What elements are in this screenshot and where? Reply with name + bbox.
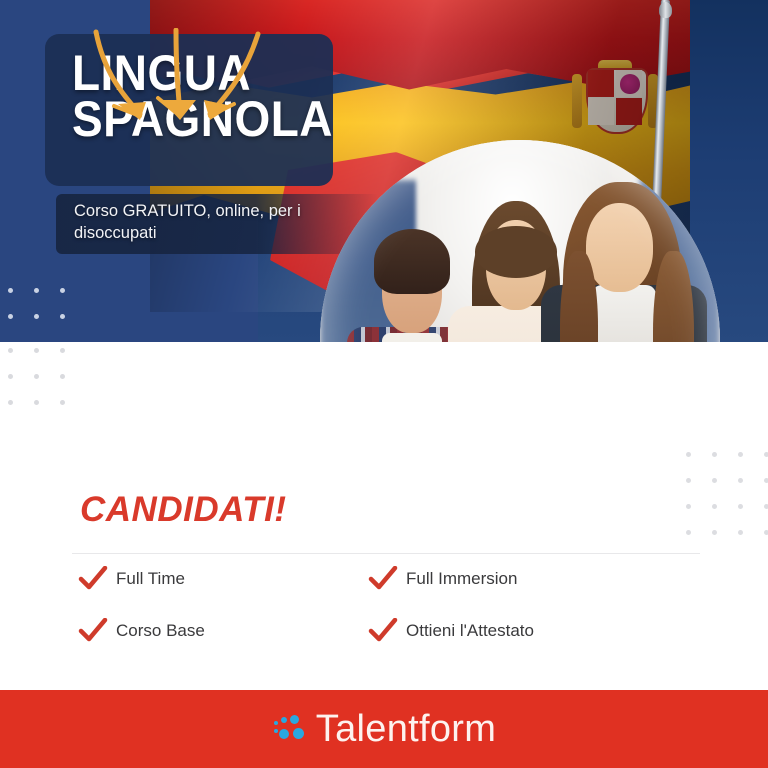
decorative-dot <box>738 504 743 509</box>
decorative-dot <box>60 288 65 293</box>
decorative-dot <box>764 478 768 483</box>
decorative-dot <box>686 530 691 535</box>
brand-name: Talentform <box>316 708 496 751</box>
checklist-row: Full Time Full Immersion <box>78 566 698 592</box>
feature-checklist: Full Time Full Immersion Corso Base <box>78 566 698 670</box>
check-icon <box>368 618 398 644</box>
decorative-dot <box>34 288 39 293</box>
list-item: Ottieni l'Attestato <box>368 618 658 644</box>
list-item: Full Time <box>78 566 368 592</box>
decorative-dot <box>8 288 13 293</box>
decorative-dot <box>712 504 717 509</box>
brand-logo: Talentform <box>272 708 496 751</box>
decorative-dot <box>60 374 65 379</box>
down-arrows-icon <box>88 28 268 138</box>
decorative-dot <box>738 478 743 483</box>
section-divider <box>72 553 700 554</box>
decorative-dot <box>712 530 717 535</box>
decorative-dot <box>8 400 13 405</box>
decorative-dot <box>34 314 39 319</box>
arms-quarter-4 <box>616 98 642 125</box>
flag-pole-cap <box>659 2 672 18</box>
decorative-dot <box>34 374 39 379</box>
decorative-dot <box>34 400 39 405</box>
check-icon <box>78 566 108 592</box>
decorative-dot <box>34 348 39 353</box>
footer-bar: Talentform <box>0 690 768 768</box>
decorative-dot <box>764 452 768 457</box>
decorative-dot <box>738 452 743 457</box>
student-left-hair <box>374 229 450 294</box>
decorative-dot <box>764 504 768 509</box>
dot-grid-left-on-blue <box>8 288 86 340</box>
list-item-label: Corso Base <box>116 621 205 641</box>
decorative-dot <box>738 530 743 535</box>
check-icon <box>78 618 108 644</box>
arms-quarter-3 <box>588 98 614 125</box>
decorative-dot <box>686 504 691 509</box>
list-item: Full Immersion <box>368 566 658 592</box>
decorative-dot <box>686 478 691 483</box>
decorative-dot <box>60 314 65 319</box>
dot-grid-right <box>686 452 768 556</box>
dot-grid-left-on-white <box>8 348 86 426</box>
coat-of-arms-icon <box>568 60 664 146</box>
decorative-dot <box>764 530 768 535</box>
decorative-dot <box>8 348 13 353</box>
student-right-face <box>586 203 653 292</box>
decorative-dot <box>60 348 65 353</box>
decorative-dot <box>686 452 691 457</box>
poster: LINGUA SPAGNOLA Corso GRATUITO, online, … <box>0 0 768 768</box>
list-item-label: Full Time <box>116 569 185 589</box>
arms-lion <box>620 74 640 94</box>
arms-pillar-left <box>572 74 582 128</box>
list-item-label: Ottieni l'Attestato <box>406 621 534 641</box>
decorative-dot <box>60 400 65 405</box>
decorative-dot <box>8 374 13 379</box>
decorative-dot <box>712 478 717 483</box>
decorative-dot <box>8 314 13 319</box>
decorative-dot <box>712 452 717 457</box>
dot-cluster-icon <box>272 712 312 746</box>
list-item-label: Full Immersion <box>406 569 517 589</box>
arms-quarter-1 <box>588 70 614 97</box>
cta-text: CANDIDATI! <box>80 490 287 530</box>
checklist-row: Corso Base Ottieni l'Attestato <box>78 618 698 644</box>
check-icon <box>368 566 398 592</box>
list-item: Corso Base <box>78 618 368 644</box>
